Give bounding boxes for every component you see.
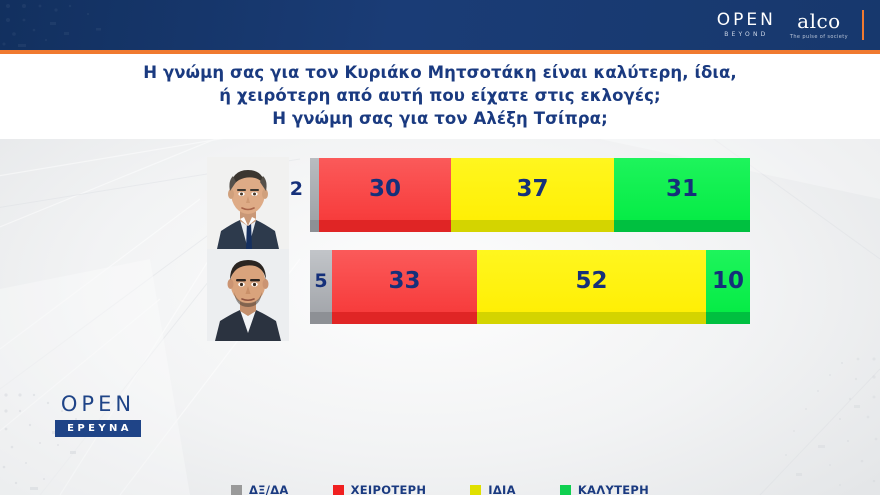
bar-row-mitsotakis-bevel <box>310 220 750 232</box>
bar-seg-dx-mitsotakis <box>310 158 319 220</box>
portrait-mitsotakis <box>207 157 289 249</box>
bevel-seg-same-2 <box>477 312 706 324</box>
chart-canvas: OPEN ΕΡΕΥΝΑ <box>0 139 880 495</box>
portrait-tsipras-image <box>207 249 289 341</box>
bar-value-dx-mitsotakis: 2 <box>294 158 303 220</box>
open-ereyna-badge: ΕΡΕΥΝΑ <box>55 420 141 437</box>
legend-swatch-better-icon <box>560 485 571 495</box>
bevel-seg-dx <box>310 220 319 232</box>
bar-seg-dx-tsipras: 5 <box>310 250 332 312</box>
alco-logo: alco The pulse of society <box>790 11 848 40</box>
legend-swatch-worse-icon <box>333 485 344 495</box>
legend-label-worse: ΧΕΙΡΟΤΕΡΗ <box>351 483 427 495</box>
legend-item-better: ΚΑΛΥΤΕΡΗ <box>560 483 649 495</box>
bar-row-tsipras-bevel <box>310 312 750 324</box>
open-beyond-logo: OPEN BEYOND <box>717 12 776 38</box>
question-title-line-3: Η γνώμη σας για τον Αλέξη Τσίπρα; <box>272 108 608 131</box>
alco-logo-sub: The pulse of society <box>790 35 848 40</box>
header-logo-group: OPEN BEYOND alco The pulse of society <box>717 0 864 50</box>
bar-row-mitsotakis: 2 30 37 31 <box>310 158 750 220</box>
bar-seg-worse-tsipras: 33 <box>332 250 477 312</box>
bar-row-tsipras: 5 33 52 10 <box>310 250 750 312</box>
background-dot-pattern-right <box>690 345 880 495</box>
bevel-seg-worse <box>319 220 451 232</box>
legend-label-same: ΙΔΙΑ <box>488 483 516 495</box>
question-title-line-2: ή χειρότερη από αυτή που είχατε στις εκλ… <box>219 85 661 108</box>
bevel-seg-dx-2 <box>310 312 332 324</box>
legend-item-worse: ΧΕΙΡΟΤΕΡΗ <box>333 483 427 495</box>
chart-legend: ΔΞ/ΔΑ ΧΕΙΡΟΤΕΡΗ ΙΔΙΑ ΚΑΛΥΤΕΡΗ <box>0 483 880 495</box>
open-ereyna-main: OPEN <box>61 394 135 415</box>
legend-item-same: ΙΔΙΑ <box>470 483 516 495</box>
open-ereyna-watermark: OPEN ΕΡΕΥΝΑ <box>46 394 150 437</box>
bevel-seg-better-2 <box>706 312 750 324</box>
alco-logo-main: alco <box>797 11 841 31</box>
bevel-seg-worse-2 <box>332 312 477 324</box>
legend-label-better: ΚΑΛΥΤΕΡΗ <box>578 483 649 495</box>
header-texture <box>0 0 300 50</box>
portrait-mitsotakis-image <box>207 157 289 249</box>
legend-swatch-dx-icon <box>231 485 242 495</box>
question-title-line-1: Η γνώμη σας για τον Κυριάκο Μητσοτάκη εί… <box>143 62 737 85</box>
legend-item-dx: ΔΞ/ΔΑ <box>231 483 289 495</box>
bevel-seg-better <box>614 220 750 232</box>
open-beyond-logo-main: OPEN <box>717 12 776 29</box>
bevel-seg-same <box>451 220 614 232</box>
legend-label-dx: ΔΞ/ΔΑ <box>249 483 289 495</box>
legend-swatch-same-icon <box>470 485 481 495</box>
question-title: Η γνώμη σας για τον Κυριάκο Μητσοτάκη εί… <box>0 54 880 139</box>
poll-result-slide: OPEN BEYOND alco The pulse of society Η … <box>0 0 880 495</box>
bar-seg-same-tsipras: 52 <box>477 250 706 312</box>
portrait-tsipras <box>207 249 289 341</box>
bar-seg-better-tsipras: 10 <box>706 250 750 312</box>
bar-seg-same-mitsotakis: 37 <box>451 158 614 220</box>
bar-seg-better-mitsotakis: 31 <box>614 158 750 220</box>
header-bar: OPEN BEYOND alco The pulse of society <box>0 0 880 50</box>
open-beyond-logo-sub: BEYOND <box>724 32 768 38</box>
logo-divider <box>862 10 864 40</box>
bar-seg-worse-mitsotakis: 30 <box>319 158 451 220</box>
